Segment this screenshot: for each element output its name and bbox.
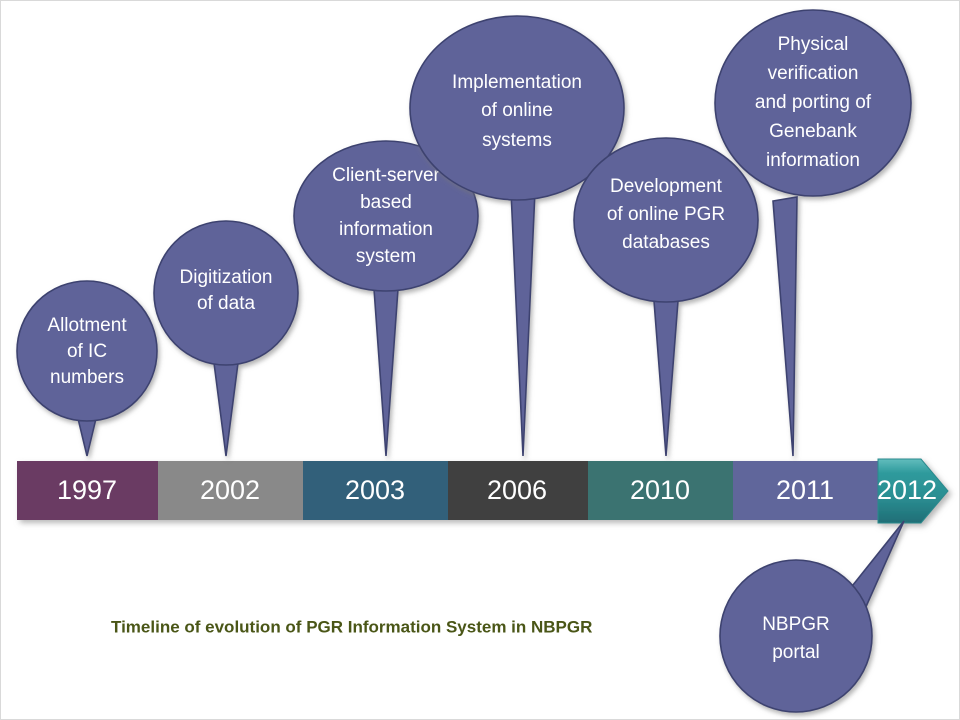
callout-line: Implementation	[452, 72, 582, 93]
callout-line: NBPGR	[762, 614, 830, 635]
year-label-2006: 2006	[487, 475, 547, 505]
callout-line: of online	[481, 100, 553, 121]
callout-line: and porting of	[755, 92, 872, 113]
callout-line: of IC	[67, 341, 107, 362]
callout-line: Allotment	[47, 315, 127, 336]
callout-line: verification	[768, 63, 859, 84]
callout-line: of online PGR	[607, 204, 725, 225]
callout-2002[interactable]	[154, 221, 298, 456]
callout-2010-label: Development of online PGR databases	[607, 176, 725, 253]
timeline-diagram-canvas: 1997 2002 2003 2006 2010 2011 2012 Allot…	[0, 0, 960, 720]
year-label-2002: 2002	[200, 475, 260, 505]
callout-line: based	[360, 192, 412, 213]
callout-line: of data	[197, 293, 256, 314]
callout-2003[interactable]	[294, 141, 478, 456]
callout-line: portal	[772, 642, 820, 663]
diagram-caption: Timeline of evolution of PGR Information…	[111, 617, 592, 636]
callout-line: information	[766, 150, 860, 171]
callout-line: Genebank	[769, 121, 857, 142]
callout-line: Development	[610, 176, 723, 197]
callout-line: system	[356, 246, 416, 267]
year-label-2012: 2012	[877, 475, 937, 505]
callout-line: Physical	[778, 34, 849, 55]
timeline-diagram-svg: 1997 2002 2003 2006 2010 2011 2012 Allot…	[1, 1, 960, 720]
callout-line: Digitization	[180, 267, 273, 288]
callout-line: databases	[622, 232, 710, 253]
callout-line: Client-server	[332, 165, 440, 186]
callout-line: information	[339, 219, 433, 240]
year-label-1997: 1997	[57, 475, 117, 505]
year-label-2003: 2003	[345, 475, 405, 505]
year-label-2011: 2011	[776, 475, 834, 505]
year-label-2010: 2010	[630, 475, 690, 505]
callout-line: numbers	[50, 367, 124, 388]
callout-line: systems	[482, 130, 552, 151]
